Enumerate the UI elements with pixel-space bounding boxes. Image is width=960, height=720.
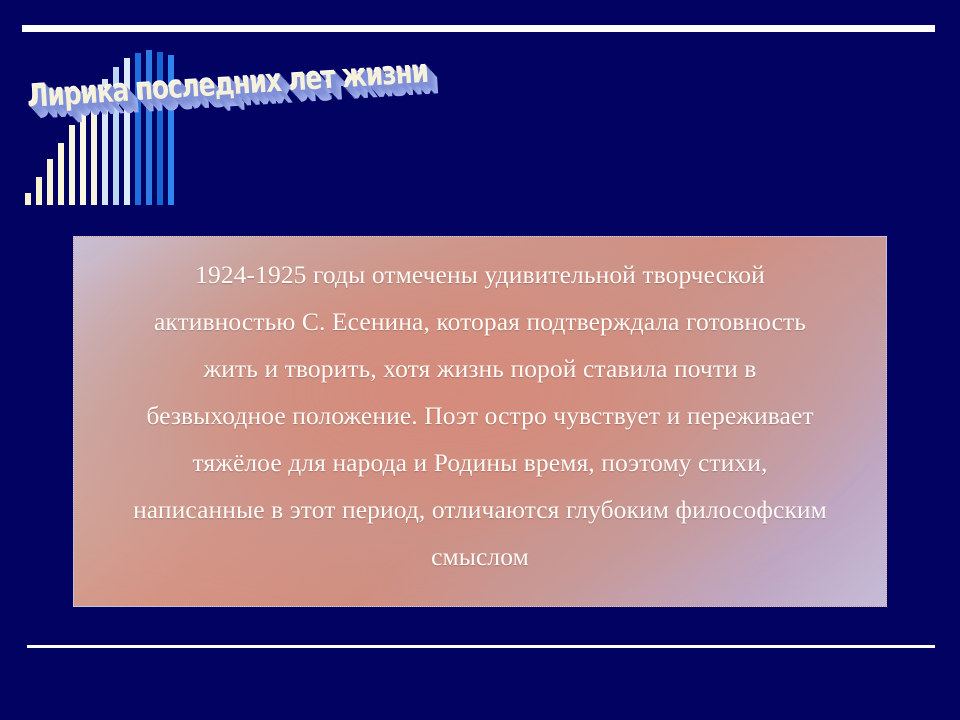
content-line: 1924-1925 годы отмечены удивительной тво… bbox=[82, 251, 878, 298]
decorative-bar bbox=[69, 125, 75, 205]
content-line: смыслом bbox=[82, 533, 878, 580]
decorative-bar bbox=[80, 108, 86, 205]
decorative-bar bbox=[102, 79, 108, 205]
decorative-vertical-bars bbox=[25, 45, 175, 205]
decorative-bar bbox=[25, 193, 31, 205]
decorative-bar bbox=[91, 93, 97, 205]
content-paragraph: 1924-1925 годы отмечены удивительной тво… bbox=[74, 251, 886, 580]
top-horizontal-rule bbox=[22, 25, 935, 32]
decorative-bar bbox=[58, 143, 64, 205]
decorative-bar bbox=[47, 159, 53, 205]
decorative-bar bbox=[157, 52, 163, 205]
bottom-horizontal-rule bbox=[27, 645, 935, 648]
content-line: безвыходное положение. Поэт остро чувств… bbox=[82, 392, 878, 439]
decorative-bar bbox=[124, 58, 130, 205]
presentation-slide: Лирика последних лет жизни 1924-1925 год… bbox=[0, 0, 960, 720]
decorative-bar bbox=[113, 67, 119, 205]
content-line: жить и творить, хотя жизнь порой ставила… bbox=[82, 345, 878, 392]
decorative-bar bbox=[168, 55, 174, 205]
content-line: написанные в этот период, отличаются глу… bbox=[82, 486, 878, 533]
content-line: активностью С. Есенина, которая подтверж… bbox=[82, 298, 878, 345]
decorative-bar bbox=[36, 177, 42, 205]
content-text-box: 1924-1925 годы отмечены удивительной тво… bbox=[73, 236, 887, 607]
decorative-bar bbox=[146, 50, 152, 205]
content-line: тяжёлое для народа и Родины время, поэто… bbox=[82, 439, 878, 486]
decorative-bar bbox=[135, 53, 141, 205]
